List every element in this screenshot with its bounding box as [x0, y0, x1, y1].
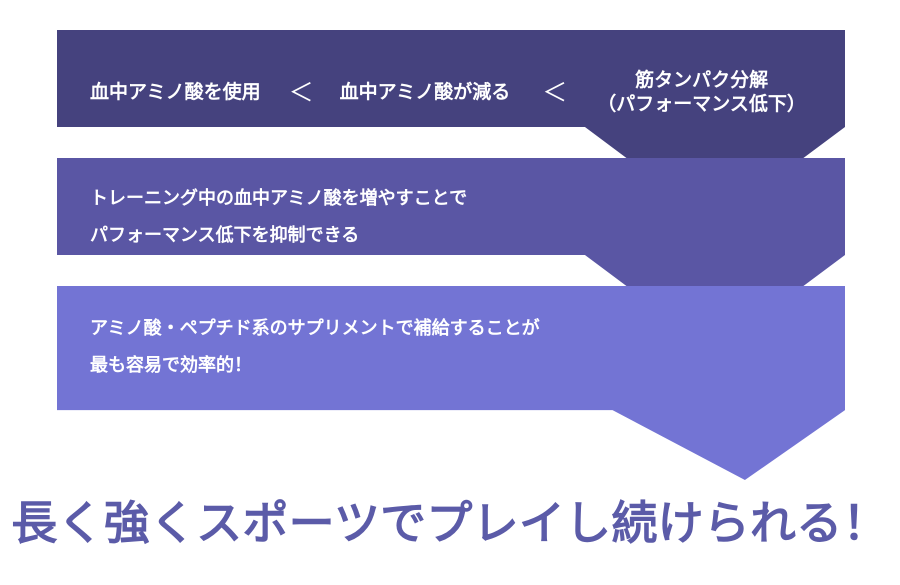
chain-step-3-line-1: 筋タンパク分解	[597, 69, 806, 93]
causal-chain-row: 血中アミノ酸を使用 ＜ 血中アミノ酸が減る ＜ 筋タンパク分解 （パフォーマンス…	[57, 62, 845, 124]
chevron-left-icon-2: ＜	[542, 80, 567, 107]
band-2-line-2: パフォーマンス低下を抑制できる	[90, 227, 467, 245]
band-2-paragraph: トレーニング中の血中アミノ酸を増やすことで パフォーマンス低下を抑制できる	[90, 190, 467, 245]
chain-step-2: 血中アミノ酸が減る	[340, 80, 511, 106]
band-2-line-1: トレーニング中の血中アミノ酸を増やすことで	[90, 190, 467, 208]
band-3-line-2: 最も容易で効率的！	[90, 357, 540, 375]
infographic-root: 血中アミノ酸を使用 ＜ 血中アミノ酸が減る ＜ 筋タンパク分解 （パフォーマンス…	[0, 0, 900, 585]
chain-step-3-line-2: （パフォーマンス低下）	[597, 93, 806, 117]
chain-step-1: 血中アミノ酸を使用	[90, 80, 261, 106]
chevron-left-icon-1: ＜	[289, 80, 314, 107]
chain-step-3: 筋タンパク分解 （パフォーマンス低下）	[597, 69, 806, 117]
conclusion-headline: 長く強くスポーツでプレイし続けられる！	[0, 497, 900, 550]
band-3-paragraph: アミノ酸・ペプチド系のサプリメントで補給することが 最も容易で効率的！	[90, 320, 540, 375]
chevron-band-light	[57, 286, 845, 480]
band-3-line-1: アミノ酸・ペプチド系のサプリメントで補給することが	[90, 320, 540, 338]
